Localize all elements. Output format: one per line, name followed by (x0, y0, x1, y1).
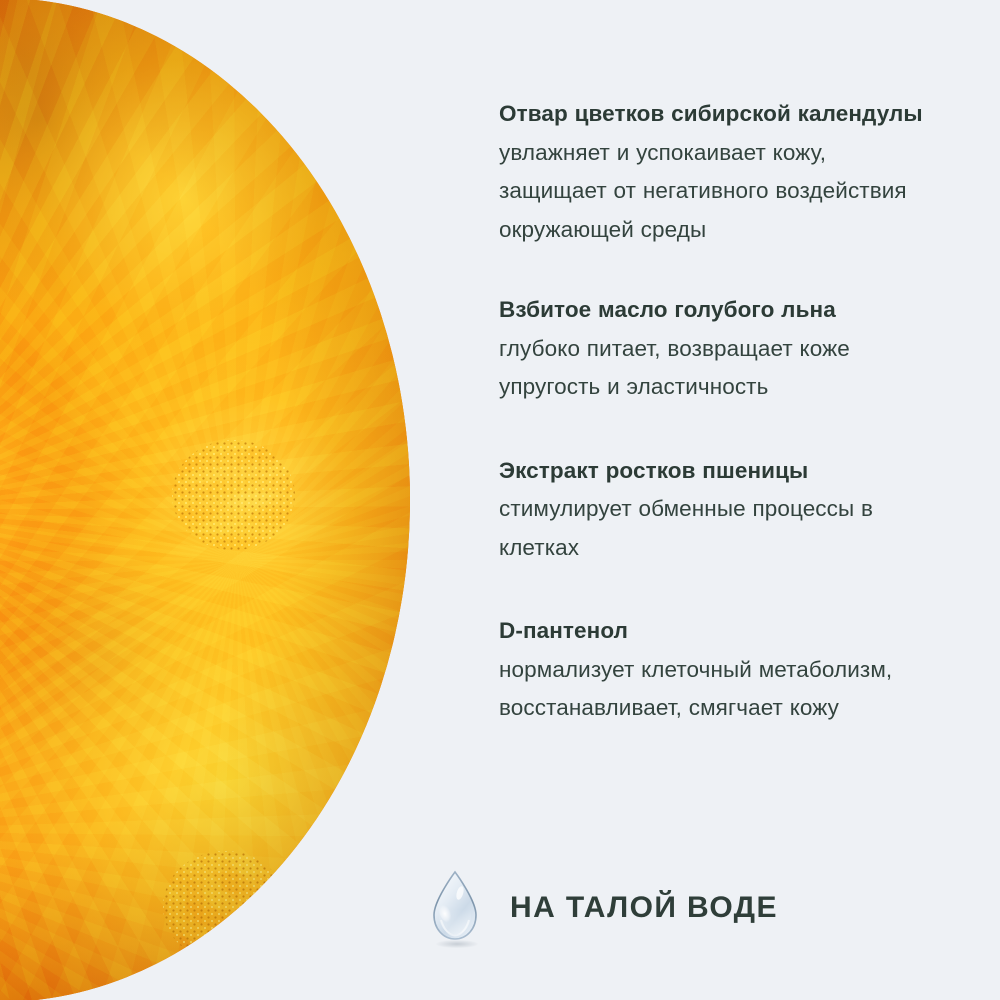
ingredient-paragraph: Экстракт ростков пшеницыстимулирует обме… (499, 452, 939, 568)
ingredient-description: глубоко питает, возвращает коже упругост… (499, 336, 850, 400)
ingredient-term: Взбитое масло голубого льна (499, 297, 836, 322)
melt-water-label: НА ТАЛОЙ ВОДЕ (510, 891, 778, 925)
photo-vignette (0, 0, 410, 1000)
melt-water-badge: НА ТАЛОЙ ВОДЕ (424, 868, 844, 948)
droplet-shadow (436, 940, 478, 948)
ingredient-item-blue-flax-oil: Взбитое масло голубого льнаглубоко питае… (499, 291, 939, 407)
ingredient-list: Отвар цветков сибирской календулы увлажн… (499, 95, 939, 728)
ingredient-description: увлажняет и успокаивает кожу, защищает о… (499, 140, 907, 242)
calendula-flowers-photo (0, 0, 410, 1000)
ingredient-item-calendula: Отвар цветков сибирской календулы увлажн… (499, 95, 939, 249)
content-column: Отвар цветков сибирской календулы увлажн… (499, 0, 959, 1000)
water-droplet-icon (424, 868, 486, 948)
ingredient-term: Экстракт ростков пшеницы (499, 458, 808, 483)
ingredient-item-d-panthenol: D-пантенолнормализует клеточный метаболи… (499, 612, 939, 728)
ingredient-paragraph: Отвар цветков сибирской календулы увлажн… (499, 95, 939, 249)
water-droplet-glyph (430, 870, 480, 942)
ingredient-term: Отвар цветков сибирской календулы (499, 101, 923, 126)
ingredients-poster: Отвар цветков сибирской календулы увлажн… (0, 0, 1000, 1000)
ingredient-term: D-пантенол (499, 618, 628, 643)
ingredient-description: нормализует клеточный метаболизм, восста… (499, 657, 892, 721)
ingredient-paragraph: Взбитое масло голубого льнаглубоко питае… (499, 291, 939, 407)
ingredient-description: стимулирует обменные процессы в клетках (499, 496, 873, 560)
ingredient-item-wheat-sprouts: Экстракт ростков пшеницыстимулирует обме… (499, 452, 939, 568)
ingredient-paragraph: D-пантенолнормализует клеточный метаболи… (499, 612, 939, 728)
